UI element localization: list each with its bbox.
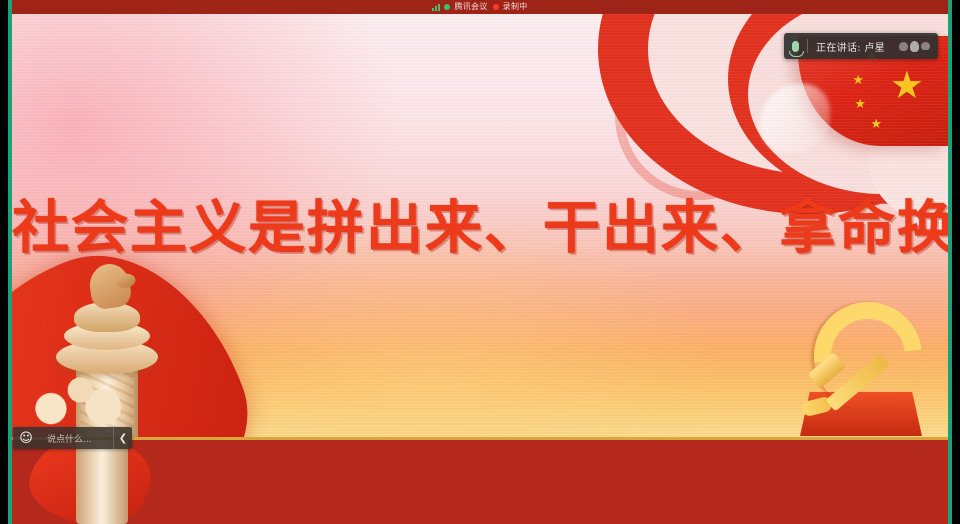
flag-big-star: ★ xyxy=(890,66,924,104)
network-status-group: 腾讯会议 xyxy=(432,3,487,11)
flag-small-star: ★ xyxy=(852,74,864,87)
meeting-status-bar: 腾讯会议 录制中 xyxy=(12,0,948,14)
huabiao-ornamental-column xyxy=(50,262,162,442)
chat-input-bar[interactable]: ☺ 说点什么... ❮ xyxy=(13,427,132,449)
flag-small-star: ★ xyxy=(870,118,882,131)
lower-red-band xyxy=(12,440,948,524)
screen-share-border-left xyxy=(8,0,12,524)
recording-label: 录制中 xyxy=(503,3,528,11)
slide-headline: 社会主义是拼出来、干出来、拿命换来的 xyxy=(12,182,948,264)
audio-waveform-icon xyxy=(899,41,930,52)
slide-gold-divider xyxy=(12,437,948,440)
recording-dot-icon xyxy=(493,4,499,10)
chat-input-placeholder: 说点什么... xyxy=(47,432,92,445)
overlay-divider xyxy=(807,39,808,53)
chat-message-input[interactable]: 说点什么... xyxy=(39,427,113,449)
active-speaker-label: 正在讲话: 卢星 xyxy=(816,39,885,54)
microphone-icon xyxy=(792,41,799,52)
active-speaker-overlay[interactable]: 正在讲话: 卢星 xyxy=(784,33,938,59)
screen-share-border-right xyxy=(948,0,952,524)
recording-status-group: 录制中 xyxy=(493,3,528,11)
chevron-left-icon[interactable]: ❮ xyxy=(113,427,132,449)
green-status-dot xyxy=(444,4,450,10)
app-name-label: 腾讯会议 xyxy=(454,3,487,11)
pillar-stone-beast xyxy=(87,261,133,310)
meeting-screen-share-view: 腾讯会议 录制中 ★ ★ ★ ★ ★ 社会主义 xyxy=(0,0,960,524)
signal-bars-icon xyxy=(432,3,440,11)
flag-small-star: ★ xyxy=(854,98,866,111)
shared-slide-canvas: ★ ★ ★ ★ ★ 社会主义是拼出来、干出来、拿命换来的 xyxy=(12,14,948,442)
smiley-face-icon[interactable]: ☺ xyxy=(13,427,39,449)
cpc-hammer-sickle-emblem xyxy=(796,331,926,436)
